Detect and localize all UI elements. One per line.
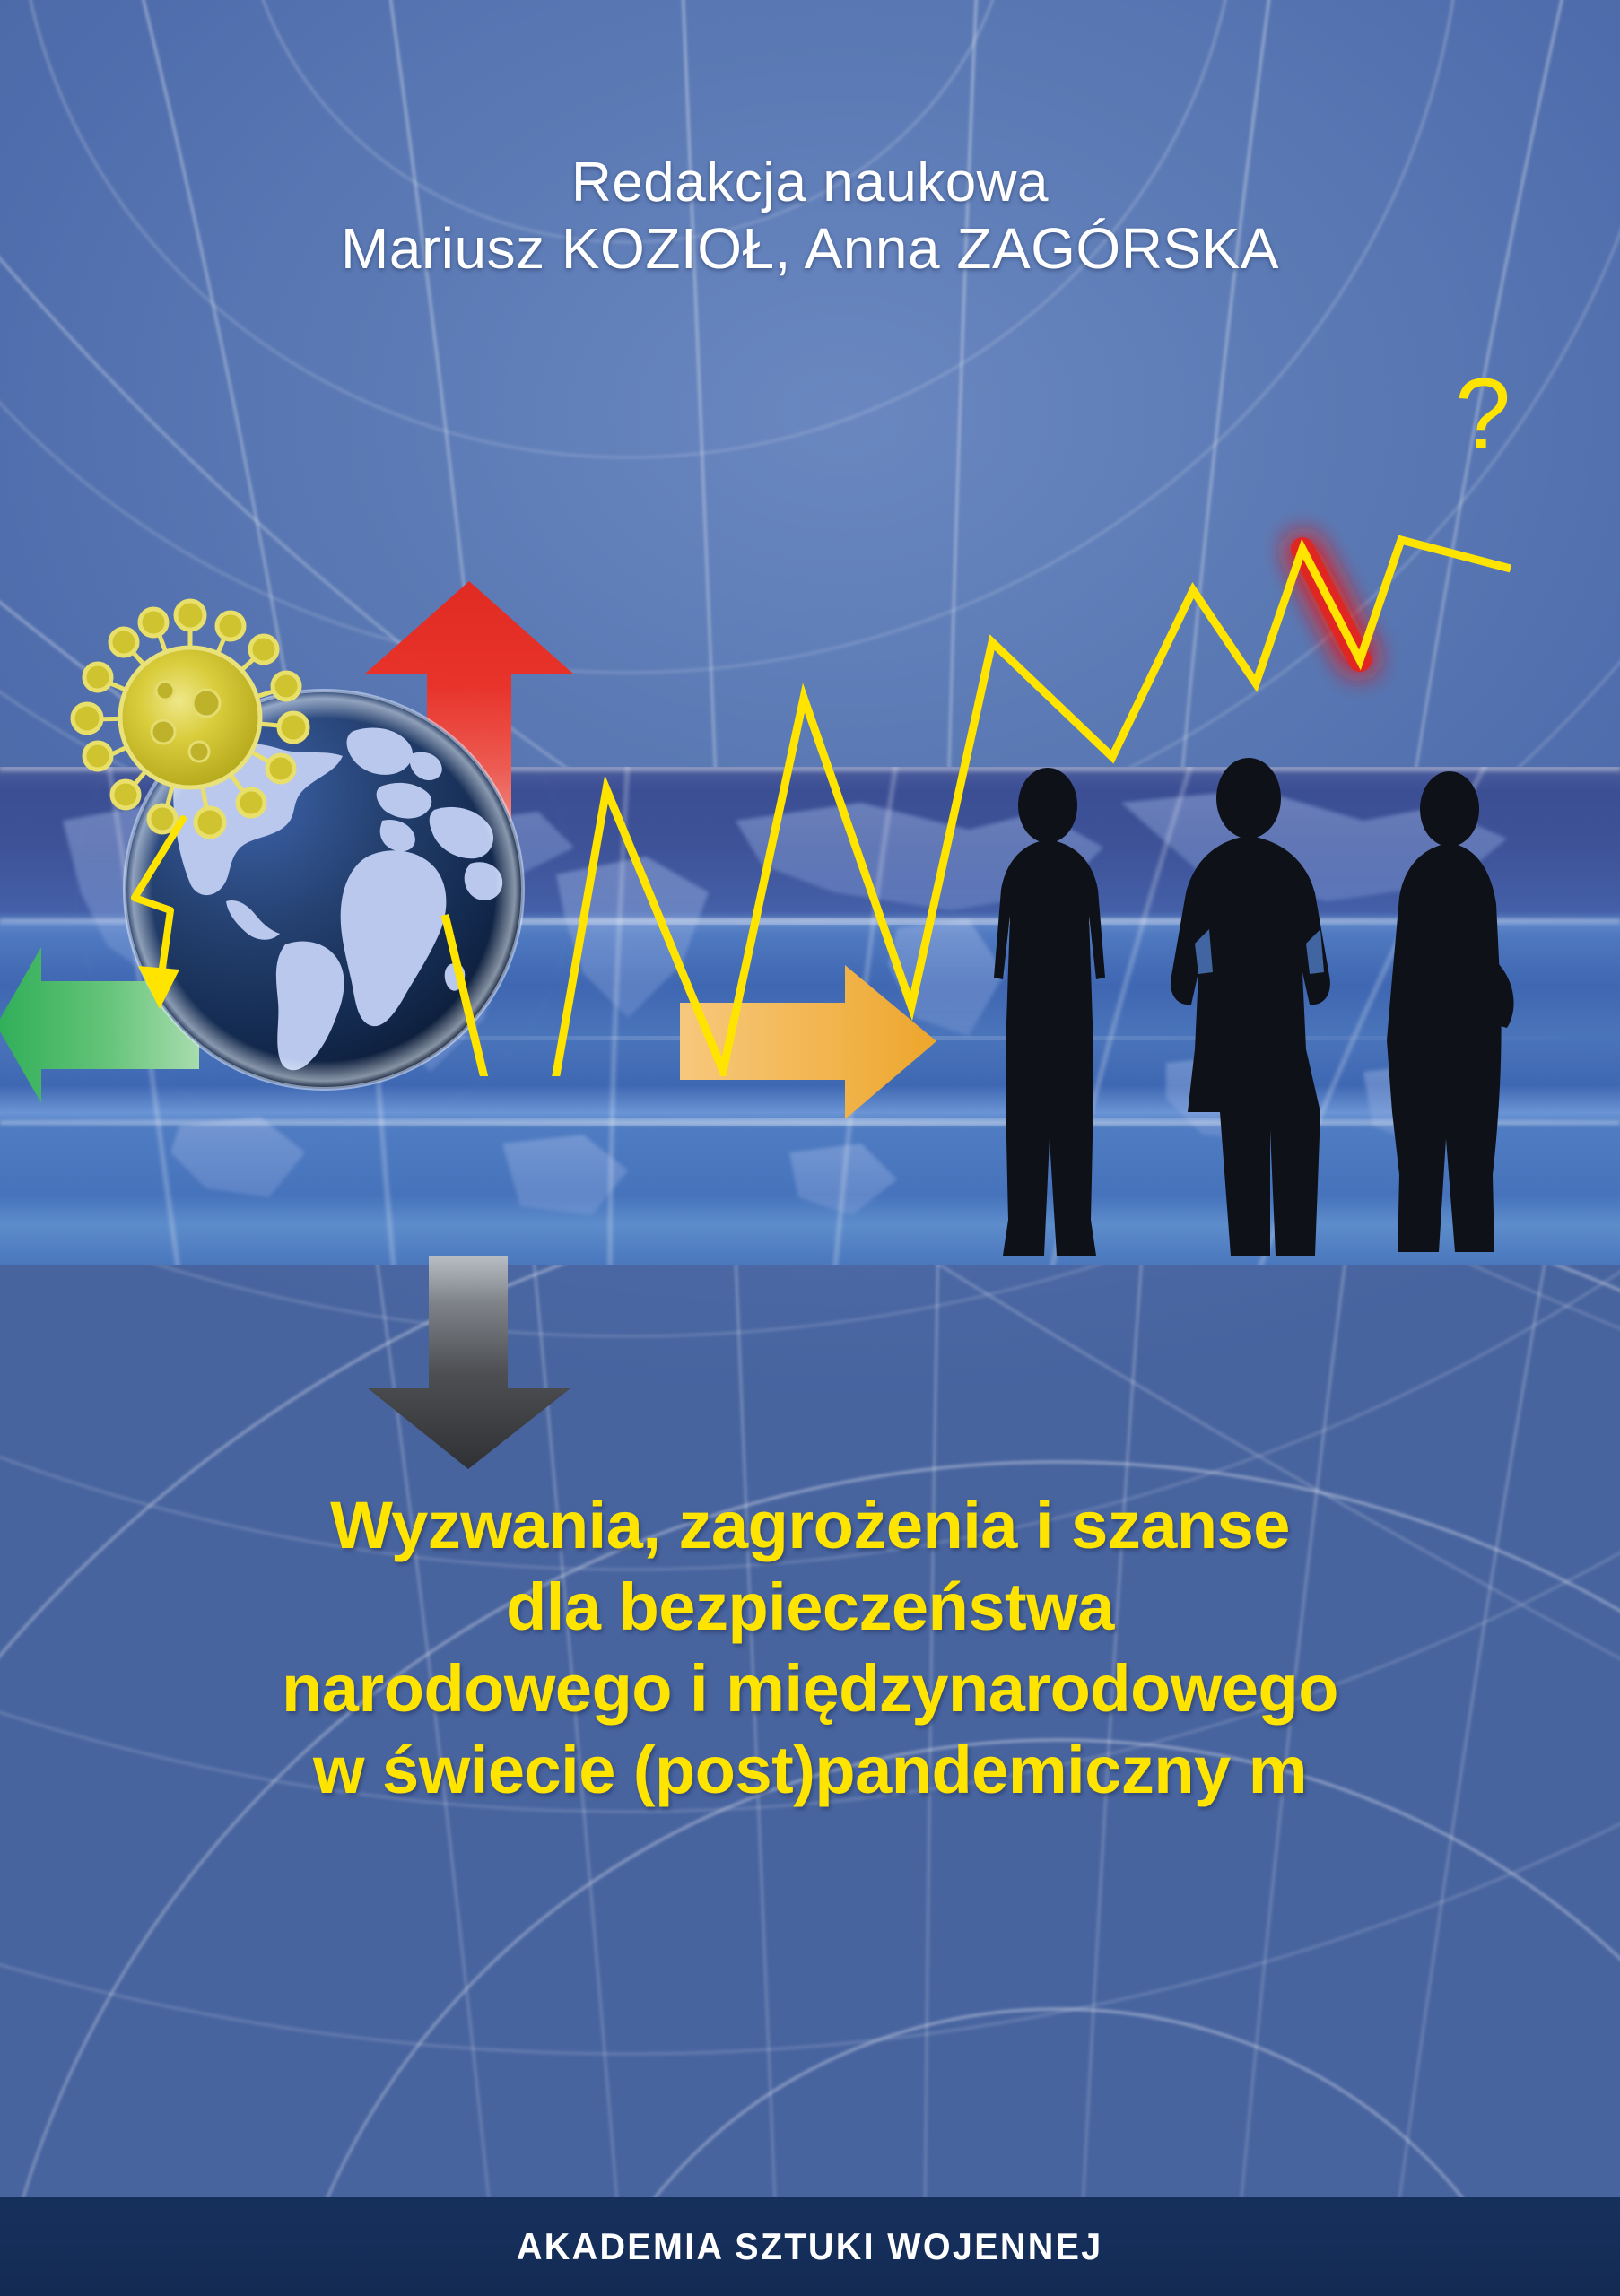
arrow-right-icon (678, 956, 938, 1126)
editor-names: Mariusz KOZIOŁ, Anna ZAGÓRSKA (0, 215, 1620, 282)
editor-credit: Redakcja naukowa Mariusz KOZIOŁ, Anna ZA… (0, 151, 1620, 282)
book-cover: ? Redakcja naukowa Mariusz KOZIOŁ, Anna … (0, 0, 1620, 2296)
businessmen-silhouettes-icon (951, 753, 1579, 1274)
title-line-4: w świecie (post)pandemiczny m (0, 1729, 1620, 1811)
publisher-name: AKADEMIA SZTUKI WOJENNEJ (517, 2225, 1103, 2268)
title-line-3: narodowego i międzynarodowego (0, 1648, 1620, 1729)
title-line-1: Wyzwania, zagrożenia i szanse (0, 1484, 1620, 1566)
editor-role-label: Redakcja naukowa (0, 151, 1620, 215)
publisher-bar: AKADEMIA SZTUKI WOJENNEJ (0, 2197, 1620, 2296)
page-title: Wyzwania, zagrożenia i szanse dla bezpie… (0, 1484, 1620, 1811)
title-line-2: dla bezpieczeństwa (0, 1566, 1620, 1648)
virus-descent-arrow-icon (108, 812, 251, 1018)
chart-question-mark: ? (1455, 358, 1511, 470)
chart-crash-highlight (1302, 549, 1360, 660)
arrow-down-icon (359, 1256, 583, 1471)
